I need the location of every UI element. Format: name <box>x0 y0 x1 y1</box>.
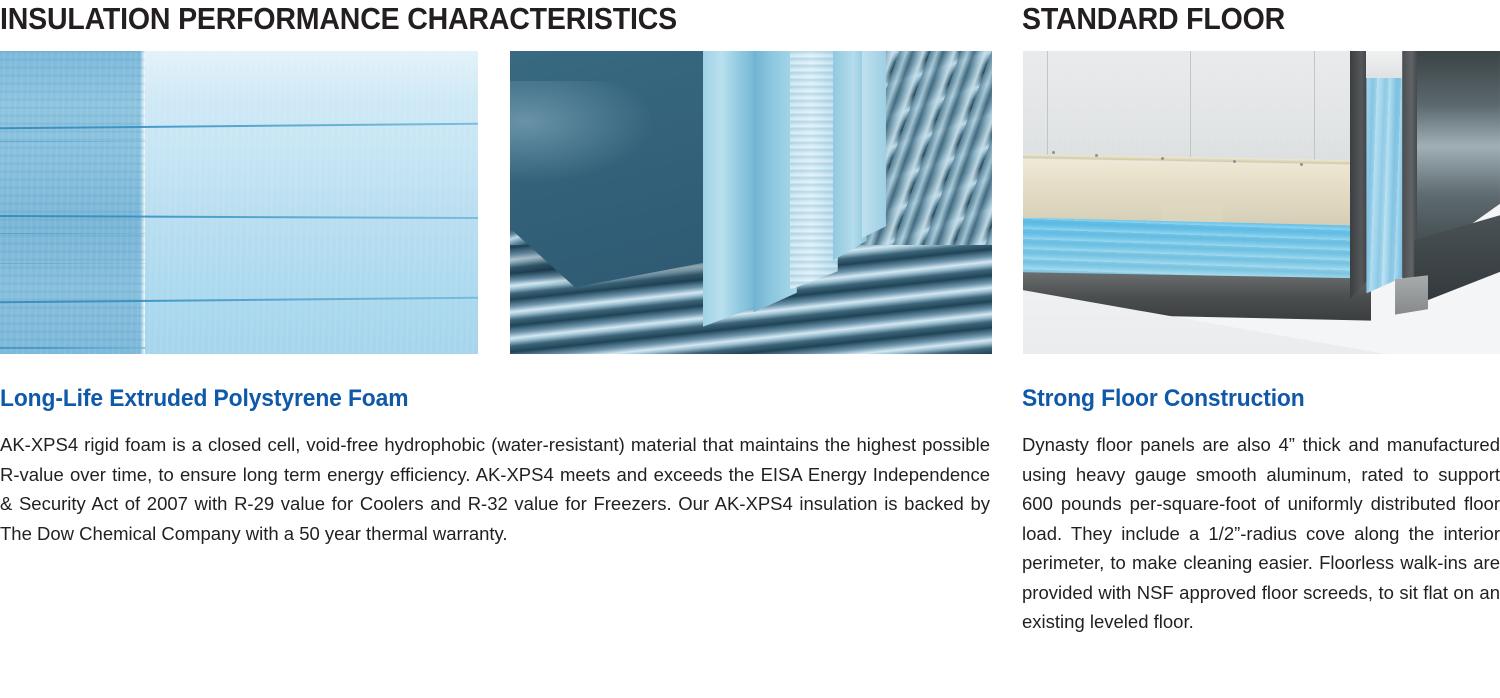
foam-panel-edge-1 <box>703 51 756 327</box>
section-header-insulation: INSULATION PERFORMANCE CHARACTERISTICS <box>0 2 677 36</box>
foam-board-seam <box>0 263 145 264</box>
foam-board-seam <box>0 141 145 142</box>
image-foam-panel-edge <box>510 51 992 354</box>
floor-base-strip <box>1395 275 1428 314</box>
corner-foam-core <box>1366 51 1404 293</box>
fastener-screw <box>1052 151 1055 154</box>
wall-panel-seam <box>1314 51 1315 172</box>
fastener-screw <box>1095 154 1098 157</box>
fastener-screw <box>1300 163 1303 166</box>
foam-cut-texture <box>790 51 838 309</box>
subheading-long-life-foam: Long-Life Extruded Polystyrene Foam <box>0 385 408 413</box>
foam-side-grain <box>0 51 145 354</box>
specular-highlight <box>510 81 655 184</box>
corner-top-notch <box>1366 51 1404 78</box>
body-text-insulation: AK-XPS4 rigid foam is a closed cell, voi… <box>0 430 990 548</box>
image-foam-stack <box>0 51 478 354</box>
wall-panel-seam <box>1047 51 1048 160</box>
foam-board-seam <box>0 233 145 234</box>
image-floor-cutaway <box>1023 51 1500 354</box>
subheading-strong-floor: Strong Floor Construction <box>1022 385 1305 413</box>
fastener-screw <box>1233 160 1236 163</box>
page-root: INSULATION PERFORMANCE CHARACTERISTICS S… <box>0 0 1500 698</box>
corner-post-left <box>1350 51 1369 299</box>
section-header-standard-floor: STANDARD FLOOR <box>1022 2 1285 36</box>
wall-panel-seam <box>1190 51 1191 166</box>
body-text-standard-floor: Dynasty floor panels are also 4” thick a… <box>1022 430 1500 637</box>
foam-board-seam <box>0 347 145 349</box>
